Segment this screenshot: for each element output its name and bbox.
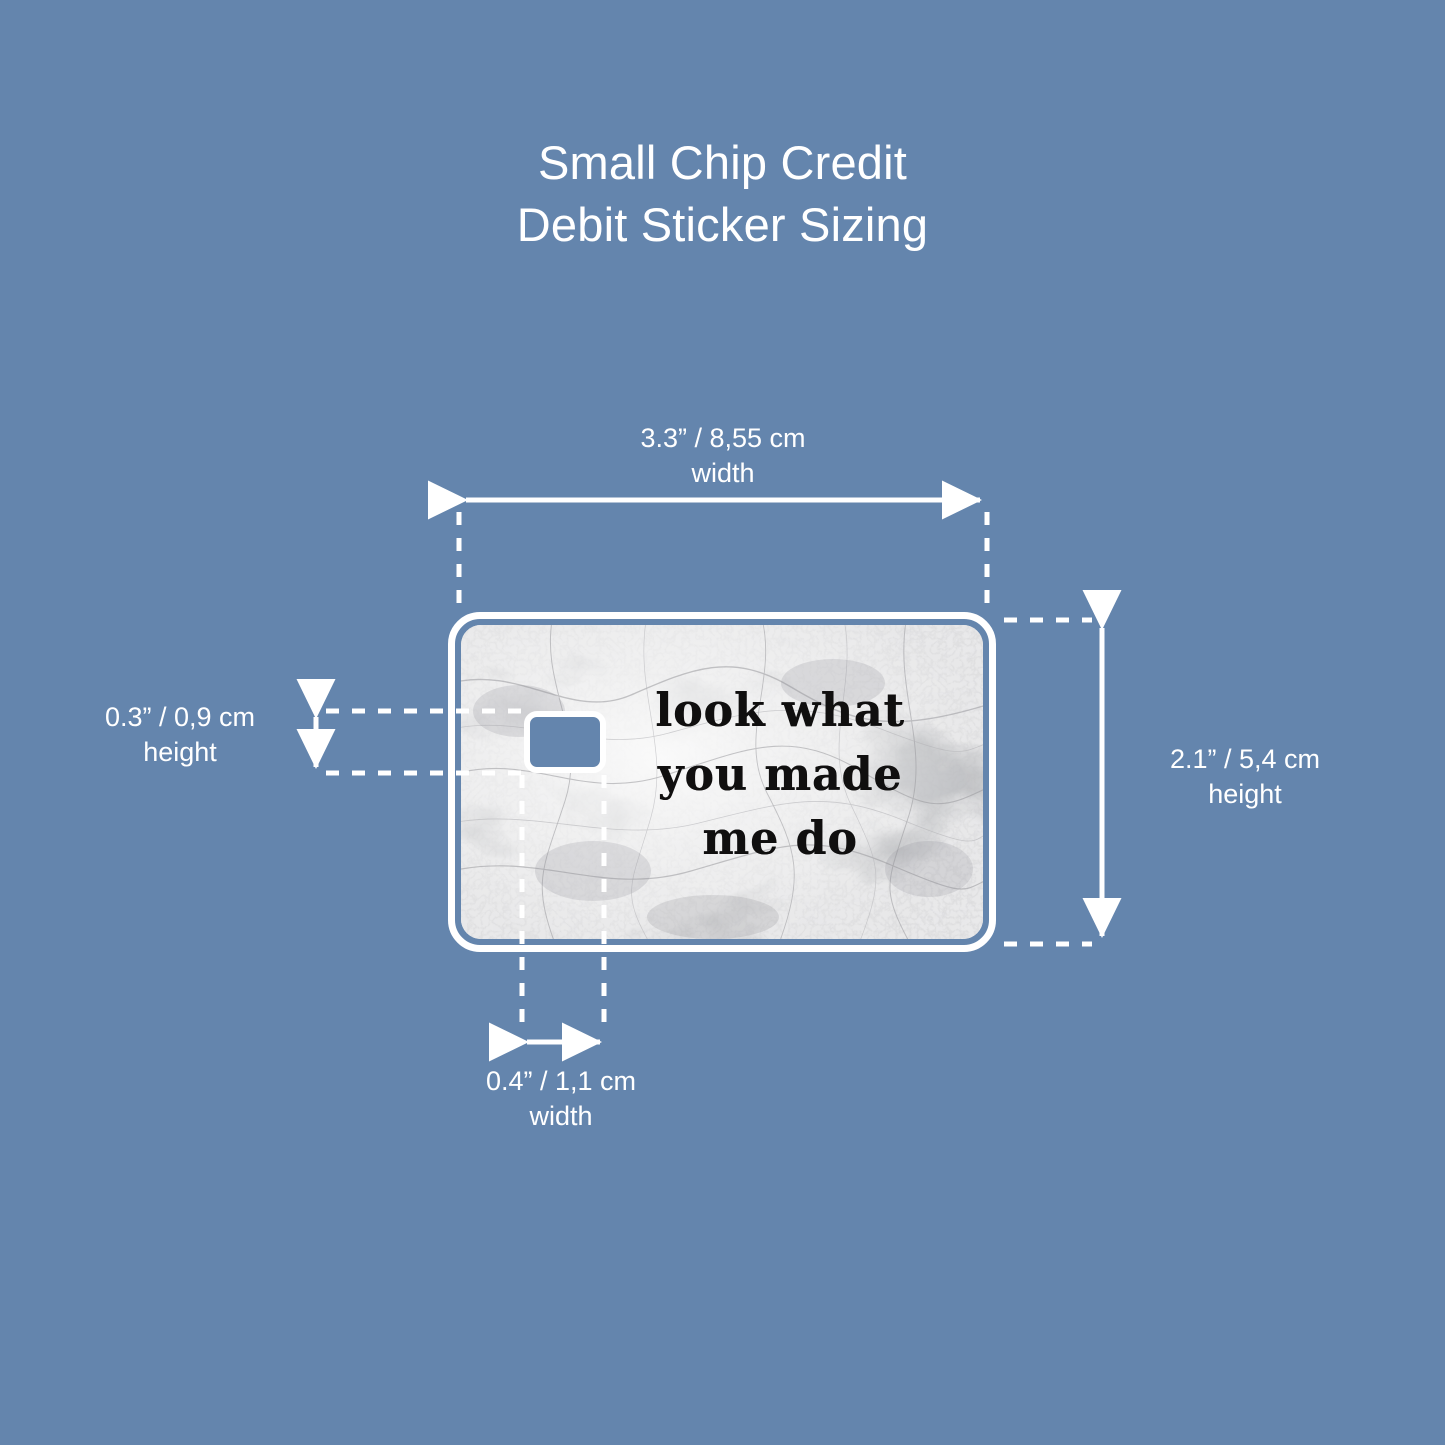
card-width-axis: width	[523, 456, 923, 491]
card-art-text-line-1: look what	[607, 678, 953, 742]
chip-width-label: 0.4” / 1,1 cm width	[411, 1064, 711, 1134]
card-width-value: 3.3” / 8,55 cm	[640, 423, 805, 453]
chip-cutout	[524, 711, 606, 773]
card-art-text-line-3: me do	[607, 806, 953, 870]
page-title-line-2: Debit Sticker Sizing	[0, 194, 1445, 256]
chip-width-axis: width	[411, 1099, 711, 1134]
sticker-sizing-diagram: Small Chip Credit Debit Sticker Sizing	[0, 0, 1445, 1445]
chip-height-label: 0.3” / 0,9 cm height	[60, 700, 300, 770]
card-height-axis: height	[1120, 777, 1370, 812]
chip-width-value: 0.4” / 1,1 cm	[486, 1066, 636, 1096]
card-height-value: 2.1” / 5,4 cm	[1170, 744, 1320, 774]
card-art-text-line-2: you made	[607, 742, 953, 806]
page-title: Small Chip Credit Debit Sticker Sizing	[0, 132, 1445, 256]
chip-height-axis: height	[60, 735, 300, 770]
card-art-text: look what you made me do	[607, 678, 953, 870]
dimension-card-width	[459, 500, 987, 612]
dimension-card-height	[1004, 620, 1102, 944]
page-title-line-1: Small Chip Credit	[0, 132, 1445, 194]
chip-height-value: 0.3” / 0,9 cm	[105, 702, 255, 732]
card-height-label: 2.1” / 5,4 cm height	[1120, 742, 1370, 812]
card-width-label: 3.3” / 8,55 cm width	[523, 421, 923, 491]
